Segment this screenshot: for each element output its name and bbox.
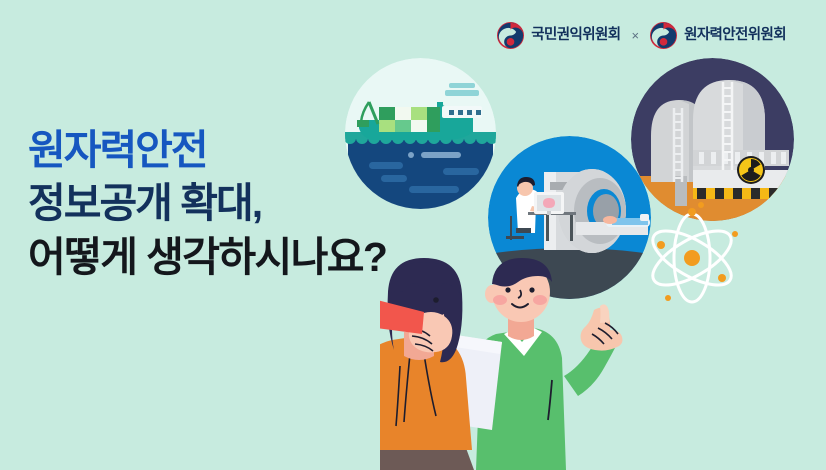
headline-block: 원자력안전 정보공개 확대, 어떻게 생각하시나요? [28, 124, 386, 284]
organization-nssc: 원자력안전위원회 [650, 22, 786, 49]
organization-acrc: 국민권익위원회 [497, 22, 620, 49]
eye-left [505, 287, 510, 292]
headline-line-3: 어떻게 생각하시나요? [28, 231, 386, 284]
korea-government-emblem-icon [497, 22, 524, 49]
eye [433, 297, 439, 303]
korea-government-emblem-icon [650, 22, 677, 49]
organization-name-acrc: 국민권익위원회 [531, 28, 620, 43]
woman-with-binoculars [380, 258, 474, 470]
headline-line-2: 정보공개 확대, [28, 177, 386, 230]
organization-logo-bar: 국민권익위원회 × 원자력안전위원회 [497, 22, 786, 49]
people-group [380, 258, 826, 470]
logo-separator: × [629, 29, 641, 42]
poster-canvas: 국민권익위원회 × 원자력안전위원회 원자력안전 정보공개 확대, 어떻게 생각… [0, 0, 826, 470]
headline-line-1: 원자력안전 [28, 124, 386, 177]
eye-right [529, 287, 534, 292]
radiation-warning-icon [737, 156, 765, 184]
organization-name-nssc: 원자력안전위원회 [684, 28, 786, 43]
